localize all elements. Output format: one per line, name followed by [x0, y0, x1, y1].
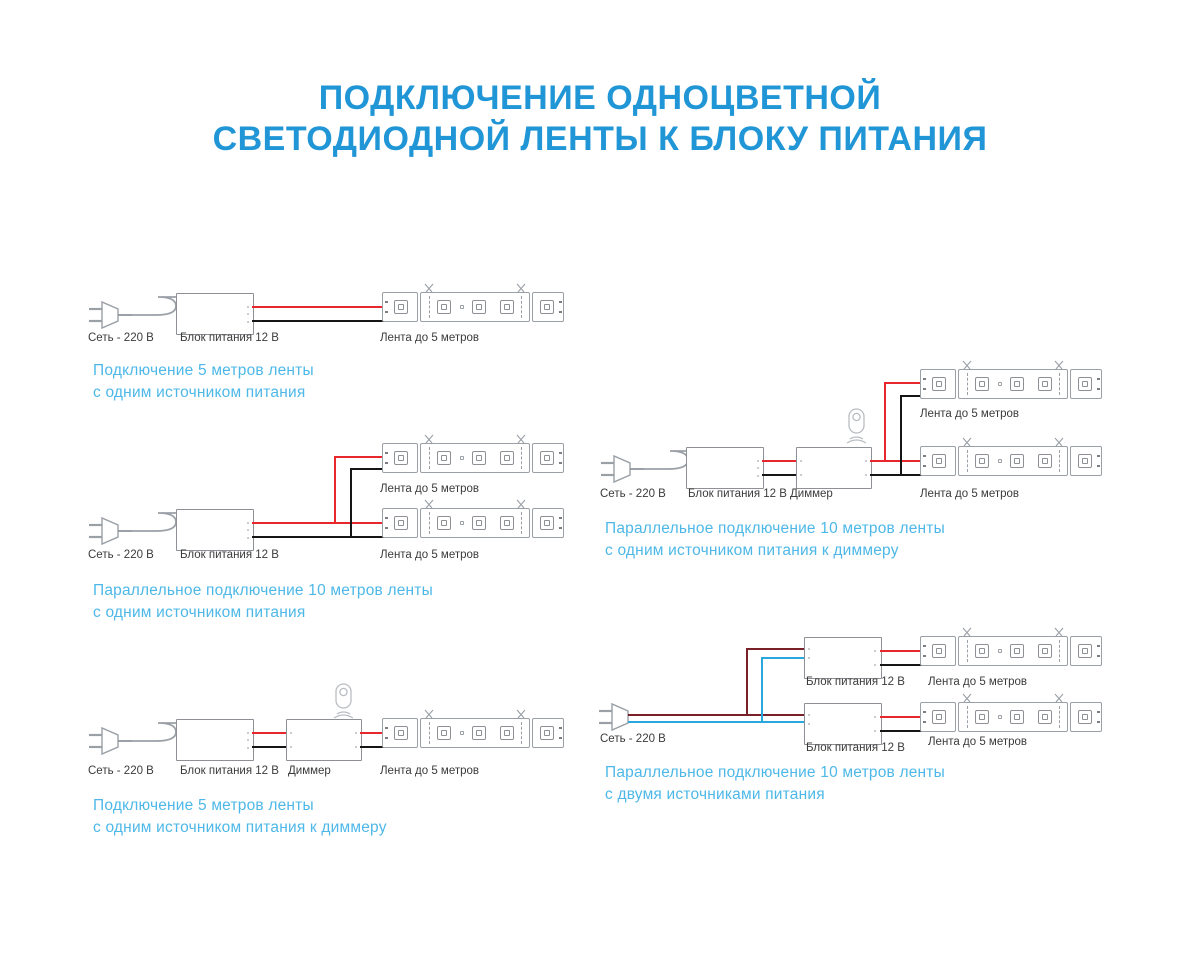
- psu-terminal-dot: [757, 475, 759, 477]
- cut-mark-icon: [423, 709, 435, 720]
- mains-label: Сеть - 220 В: [600, 488, 666, 500]
- power-supply-box: [176, 509, 254, 551]
- power-supply-box: [804, 703, 882, 745]
- psu-terminal-dot: [757, 460, 759, 462]
- psu-terminal-dot: [247, 306, 249, 308]
- led-chip: [1038, 644, 1052, 658]
- cut-mark-icon: [961, 627, 973, 638]
- dimmer-label: Диммер: [288, 765, 331, 777]
- psu-terminal-dot: [808, 648, 810, 650]
- led-chip: [394, 451, 408, 465]
- wire-positive: [870, 460, 926, 462]
- psu-terminal-dot: [874, 664, 876, 666]
- cut-mark-icon: [423, 434, 435, 445]
- led-chip: [500, 516, 514, 530]
- wire-negative: [252, 746, 286, 748]
- led-chip: [472, 516, 486, 530]
- strip-label: Лента до 5 метров: [920, 488, 1019, 500]
- diagram-caption: Подключение 5 метров ленты с одним источ…: [93, 795, 387, 839]
- cut-mark-icon: [1053, 693, 1065, 704]
- led-chip: [394, 516, 408, 530]
- led-chip: [975, 644, 989, 658]
- led-chip: [1078, 710, 1092, 724]
- dimmer-terminal-dot: [865, 474, 867, 476]
- caption-line-2: с одним источником питания к диммеру: [605, 542, 899, 559]
- led-chip: [1078, 377, 1092, 391]
- led-chip: [394, 726, 408, 740]
- led-chip: [437, 516, 451, 530]
- dimmer-terminal-dot: [290, 746, 292, 748]
- dimmer-terminal-dot: [800, 474, 802, 476]
- strip-label: Лента до 5 метров: [380, 765, 479, 777]
- wire-negative-riser: [350, 468, 352, 538]
- led-chip: [472, 726, 486, 740]
- led-chip: [932, 644, 946, 658]
- led-chip: [932, 377, 946, 391]
- led-chip: [540, 726, 554, 740]
- led-chip: [975, 377, 989, 391]
- psu-terminal-dot: [757, 467, 759, 469]
- power-supply-box: [686, 447, 764, 489]
- cut-mark-icon: [961, 693, 973, 704]
- strip-label: Лента до 5 метров: [920, 408, 1019, 420]
- wire-ac-line: [716, 714, 804, 716]
- cut-mark-icon: [1053, 360, 1065, 371]
- cut-mark-icon: [961, 360, 973, 371]
- caption-line-2: с одним источником питания: [93, 384, 305, 401]
- caption-line-1: Подключение 5 метров ленты: [93, 362, 314, 379]
- led-strip: [382, 718, 562, 748]
- psu-terminal-dot: [808, 657, 810, 659]
- led-chip: [975, 710, 989, 724]
- dimmer-terminal-dot: [800, 460, 802, 462]
- strip-label: Лента до 5 метров: [928, 736, 1027, 748]
- cut-mark-icon: [961, 437, 973, 448]
- led-strip: [382, 508, 562, 538]
- cut-mark-icon: [1053, 437, 1065, 448]
- cut-mark-icon: [515, 709, 527, 720]
- wire-positive: [252, 306, 390, 308]
- strip-label: Лента до 5 метров: [380, 549, 479, 561]
- led-chip: [1010, 644, 1024, 658]
- cut-mark-icon: [515, 283, 527, 294]
- psu-terminal-dot: [247, 313, 249, 315]
- led-strip: [382, 443, 562, 473]
- led-chip: [472, 451, 486, 465]
- psu-terminal-dot: [874, 650, 876, 652]
- psu-terminal-dot: [247, 522, 249, 524]
- wire-ac-neutral: [628, 721, 733, 723]
- diagram-caption: Параллельное подключение 10 метров ленты…: [93, 580, 433, 624]
- wire-positive: [762, 460, 796, 462]
- led-chip: [1038, 454, 1052, 468]
- wire-ac-neutral-top: [761, 657, 804, 659]
- dimmer-label: Диммер: [790, 488, 833, 500]
- led-chip: [540, 300, 554, 314]
- psu-terminal-dot: [247, 529, 249, 531]
- psu-label: Блок питания 12 В: [180, 549, 279, 561]
- mains-label: Сеть - 220 В: [88, 332, 154, 344]
- led-strip: [920, 446, 1100, 476]
- psu-label: Блок питания 12 В: [180, 332, 279, 344]
- led-chip: [1078, 644, 1092, 658]
- caption-line-2: с двумя источниками питания: [605, 786, 825, 803]
- wire-ac-neutral-riser: [761, 657, 763, 723]
- power-supply-box: [176, 293, 254, 335]
- led-chip: [472, 300, 486, 314]
- psu-terminal-dot: [247, 732, 249, 734]
- led-chip: [1010, 710, 1024, 724]
- remote-control-icon: [838, 408, 874, 450]
- wire-ac-line-riser: [746, 648, 748, 716]
- cut-mark-icon: [515, 434, 527, 445]
- wire-negative-riser: [900, 395, 902, 476]
- wire-positive-riser: [884, 382, 886, 462]
- wire-negative: [252, 536, 390, 538]
- dimmer-box: [796, 447, 872, 489]
- led-chip: [1010, 377, 1024, 391]
- psu-terminal-dot: [874, 716, 876, 718]
- mains-label: Сеть - 220 В: [88, 765, 154, 777]
- led-chip: [500, 300, 514, 314]
- wire-positive: [252, 522, 390, 524]
- dimmer-terminal-dot: [290, 732, 292, 734]
- psu-terminal-dot: [247, 739, 249, 741]
- mains-label: Сеть - 220 В: [600, 733, 666, 745]
- caption-line-2: с одним источником питания: [93, 604, 305, 621]
- led-chip: [932, 710, 946, 724]
- wire-negative: [762, 474, 796, 476]
- led-chip: [1038, 377, 1052, 391]
- psu-terminal-dot: [874, 730, 876, 732]
- led-chip: [975, 454, 989, 468]
- wire-negative: [252, 320, 390, 322]
- psu-label: Блок питания 12 В: [180, 765, 279, 777]
- led-chip: [540, 516, 554, 530]
- caption-line-1: Параллельное подключение 10 метров ленты: [605, 764, 945, 781]
- led-chip: [500, 451, 514, 465]
- cut-mark-icon: [423, 283, 435, 294]
- mains-plug-icon: [598, 702, 650, 736]
- diagram-caption: Параллельное подключение 10 метров ленты…: [605, 518, 945, 562]
- led-strip: [920, 369, 1100, 399]
- cut-mark-icon: [515, 499, 527, 510]
- caption-line-1: Подключение 5 метров ленты: [93, 797, 314, 814]
- caption-line-1: Параллельное подключение 10 метров ленты: [605, 520, 945, 537]
- caption-line-2: с одним источником питания к диммеру: [93, 819, 387, 836]
- led-chip: [1038, 710, 1052, 724]
- led-chip: [437, 300, 451, 314]
- wire-positive-riser: [334, 456, 336, 524]
- psu-terminal-dot: [808, 723, 810, 725]
- psu-terminal-dot: [247, 321, 249, 323]
- wire-ac-neutral: [731, 721, 804, 723]
- diagram-caption: Подключение 5 метров ленты с одним источ…: [93, 360, 314, 404]
- wire-positive: [252, 732, 286, 734]
- psu-terminal-dot: [247, 537, 249, 539]
- led-chip: [932, 454, 946, 468]
- strip-label: Лента до 5 метров: [380, 483, 479, 495]
- caption-line-1: Параллельное подключение 10 метров ленты: [93, 582, 433, 599]
- psu-terminal-dot: [808, 714, 810, 716]
- dimmer-terminal-dot: [355, 746, 357, 748]
- led-strip: [920, 636, 1100, 666]
- dimmer-box: [286, 719, 362, 761]
- led-chip: [1010, 454, 1024, 468]
- cut-mark-icon: [1053, 627, 1065, 638]
- strip-label: Лента до 5 метров: [380, 332, 479, 344]
- wire-ac-line-top: [746, 648, 804, 650]
- psu-label: Блок питания 12 В: [688, 488, 787, 500]
- wire-ac-line: [628, 714, 718, 716]
- power-supply-box: [804, 637, 882, 679]
- led-strip: [920, 702, 1100, 732]
- strip-label: Лента до 5 метров: [928, 676, 1027, 688]
- led-chip: [437, 451, 451, 465]
- mains-label: Сеть - 220 В: [88, 549, 154, 561]
- psu-terminal-dot: [247, 747, 249, 749]
- psu-label: Блок питания 12 В: [806, 676, 905, 688]
- dimmer-terminal-dot: [355, 732, 357, 734]
- wire-negative: [870, 474, 926, 476]
- led-chip: [394, 300, 408, 314]
- cut-mark-icon: [423, 499, 435, 510]
- led-chip: [540, 451, 554, 465]
- diagram-caption: Параллельное подключение 10 метров ленты…: [605, 762, 945, 806]
- led-strip: [382, 292, 562, 322]
- power-supply-box: [176, 719, 254, 761]
- led-chip: [437, 726, 451, 740]
- remote-control-icon: [325, 683, 361, 725]
- dimmer-terminal-dot: [865, 460, 867, 462]
- led-chip: [500, 726, 514, 740]
- diagram-parallel-two-strips-two-psu: Лента до 5 метров Блок питания 12 В Сеть…: [0, 0, 600, 260]
- psu-label: Блок питания 12 В: [806, 742, 905, 754]
- led-chip: [1078, 454, 1092, 468]
